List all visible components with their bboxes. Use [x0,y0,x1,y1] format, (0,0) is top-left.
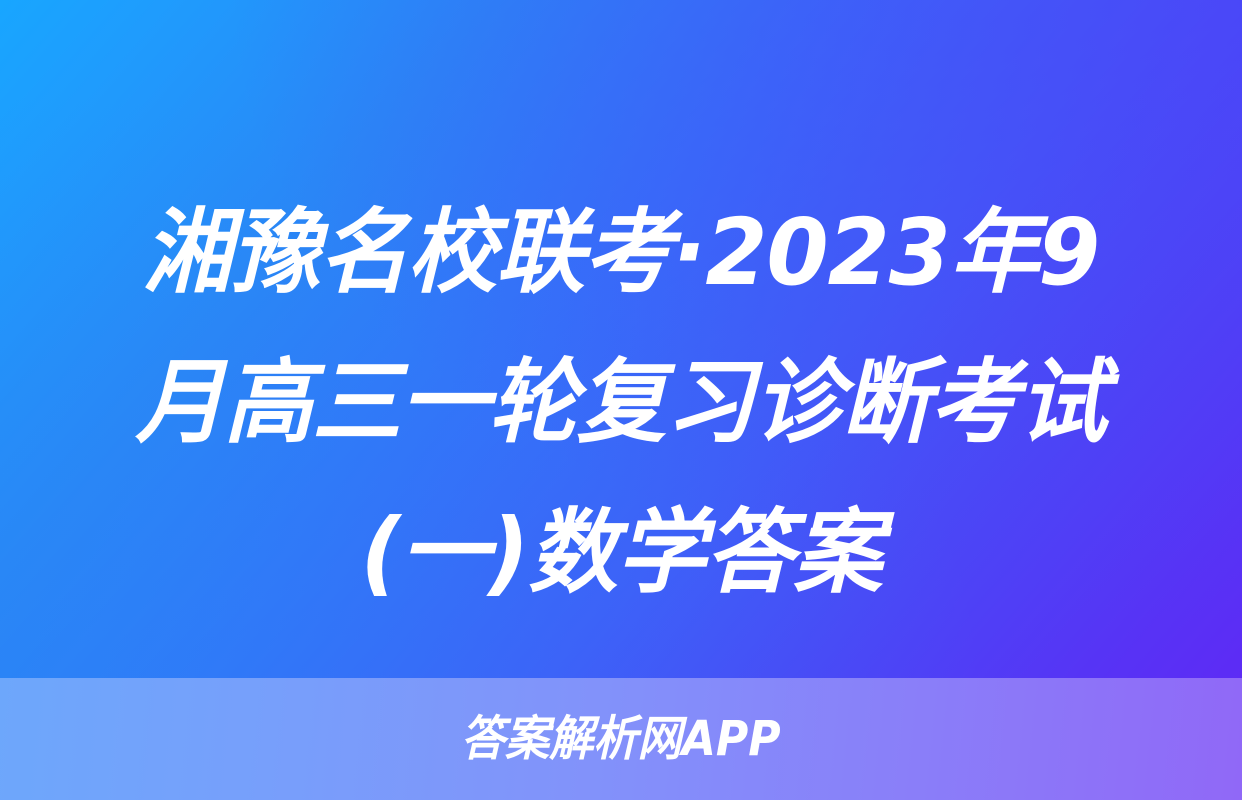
title-line-1: 湘豫名校联考·2023年9 [52,178,1191,328]
title-line-2: 月高三一轮复习诊断考试 [52,328,1191,478]
poster-root: 湘豫名校联考·2023年9 月高三一轮复习诊断考试 (一)数学答案 答案解析网A… [0,0,1242,800]
title-line-3: (一)数学答案 [52,478,1191,628]
hero-gradient-panel: 湘豫名校联考·2023年9 月高三一轮复习诊断考试 (一)数学答案 [0,0,1242,678]
brand-watermark: 答案解析网APP [461,715,781,763]
footer-brand-bar: 答案解析网APP [0,678,1242,800]
page-title: 湘豫名校联考·2023年9 月高三一轮复习诊断考试 (一)数学答案 [0,178,1242,628]
